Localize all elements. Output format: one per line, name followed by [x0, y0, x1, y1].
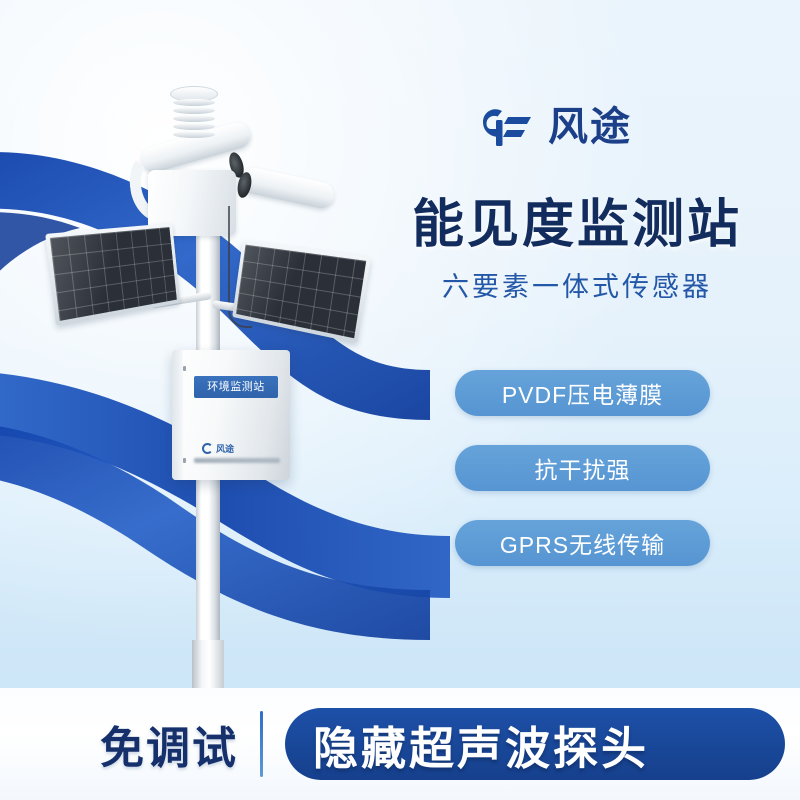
- fengtu-g-logo-icon: [202, 443, 213, 454]
- feature-list: PVDF压电薄膜 抗干扰强 GPRS无线传输: [455, 370, 710, 595]
- radiation-shield-icon: [168, 86, 220, 142]
- cabinet-company-text: [194, 458, 280, 463]
- pole-base: [192, 640, 224, 692]
- page-title: 能见度监测站: [362, 182, 792, 257]
- solar-panel-left: [45, 223, 180, 326]
- product-poster: 环境监测站 风途 风途 能见度监测站 六要素一体式传感器 PVDF压电薄膜 抗干…: [0, 0, 800, 800]
- feature-pill-1[interactable]: PVDF压电薄膜: [455, 370, 710, 416]
- cabinet-logo-text: 风途: [216, 442, 234, 455]
- brand-logo: 风途: [480, 104, 632, 150]
- page-subtitle: 六要素一体式传感器: [362, 265, 792, 304]
- visibility-sensor-receiver-arm: [237, 165, 336, 210]
- bottom-banner: 免调试 隐藏超声波探头: [0, 688, 800, 800]
- fengtu-g-logo-icon: [480, 104, 538, 150]
- product-image: 环境监测站 风途: [0, 0, 420, 700]
- cabinet-band-label: 环境监测站: [194, 376, 278, 398]
- equipment-cabinet: 环境监测站 风途: [172, 350, 290, 480]
- banner-divider: [260, 711, 263, 777]
- brand-name: 风途: [548, 104, 632, 150]
- banner-right-label: 隐藏超声波探头: [285, 708, 785, 780]
- banner-left-label: 免调试: [100, 712, 238, 776]
- feature-pill-2[interactable]: 抗干扰强: [455, 445, 710, 491]
- solar-panel-right: [232, 240, 371, 343]
- cabinet-brand-logo: 风途: [202, 442, 272, 455]
- feature-pill-3[interactable]: GPRS无线传输: [455, 520, 710, 566]
